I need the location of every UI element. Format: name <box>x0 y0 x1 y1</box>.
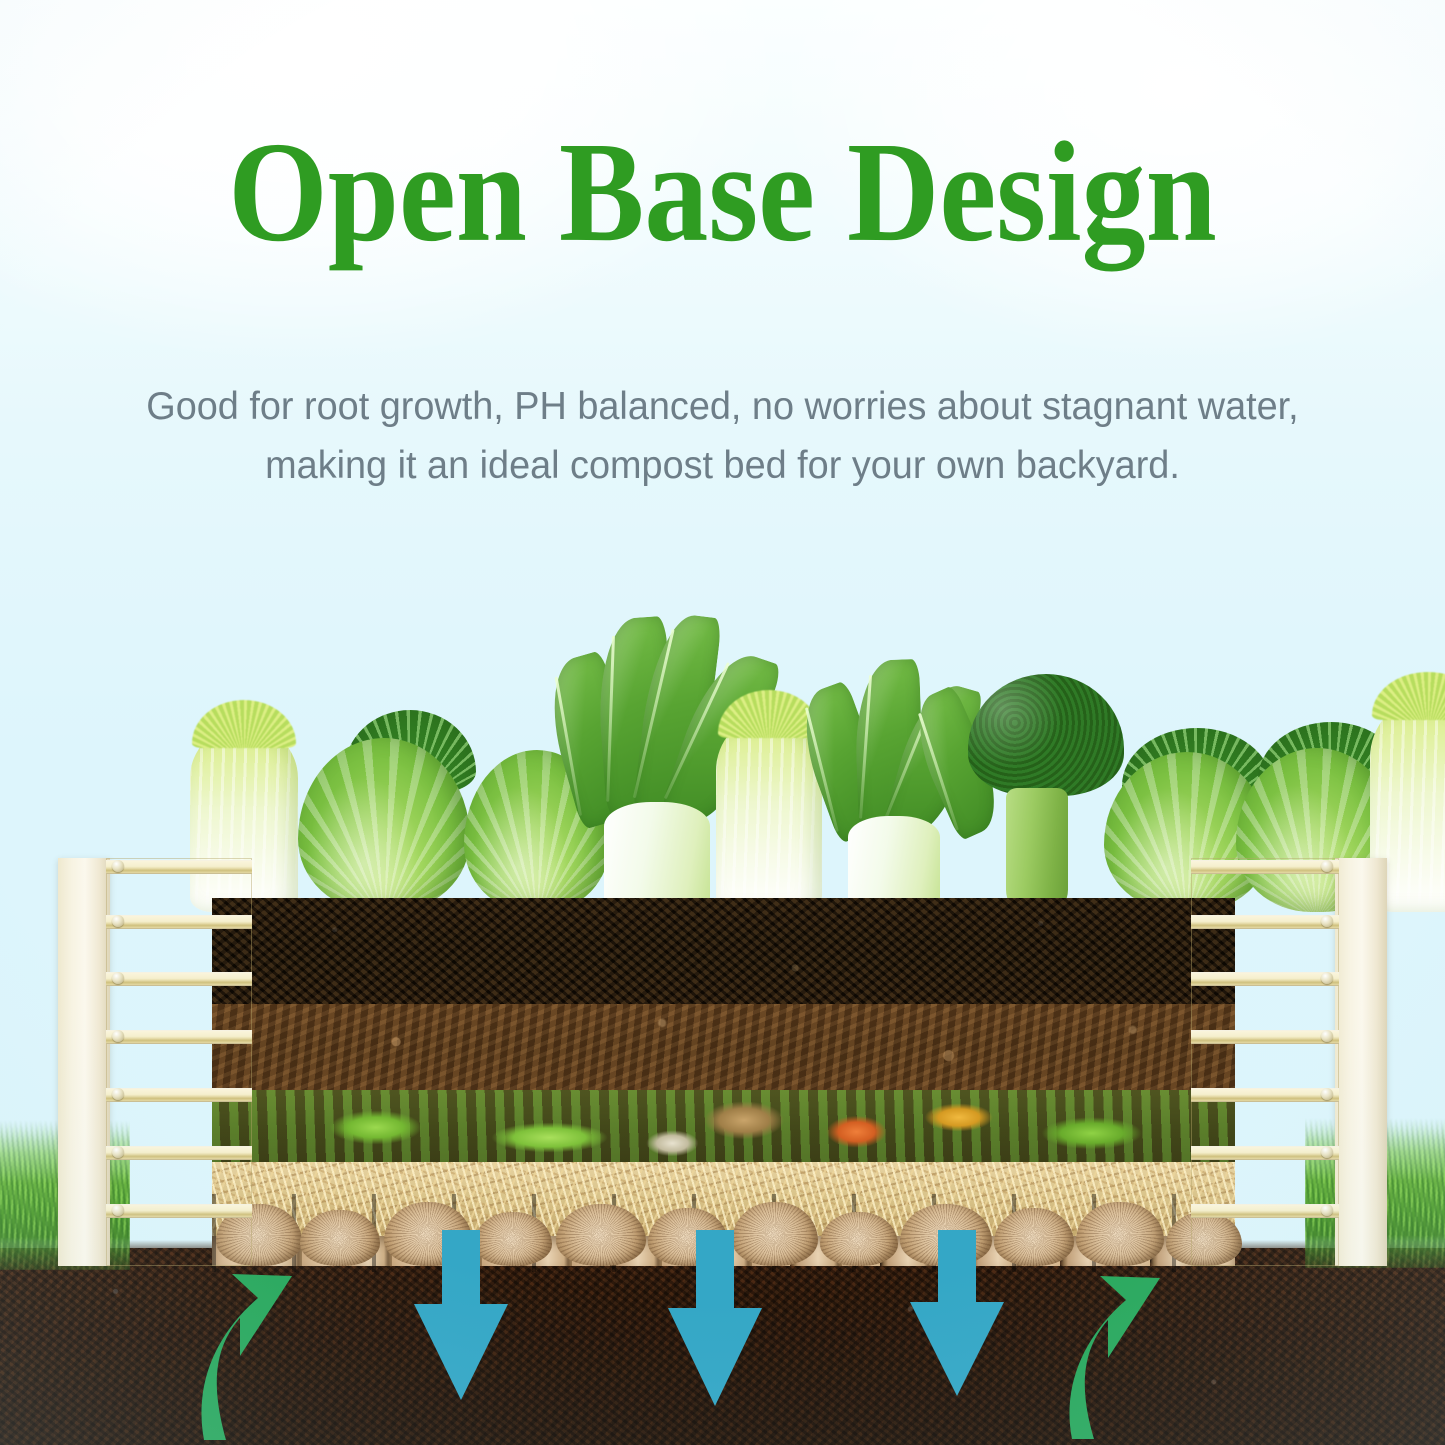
screw <box>112 1146 124 1158</box>
airflow-arrow-up-left-icon <box>196 1240 326 1440</box>
corner-post-left <box>58 858 110 1266</box>
vegetable-row <box>180 600 1265 912</box>
corner-post-right <box>1335 858 1387 1266</box>
raised-bed-panel-right[interactable] <box>1191 858 1387 1266</box>
page-title: Open Base Design <box>0 120 1445 263</box>
slat <box>1191 1088 1339 1102</box>
airflow-arrow-down-3-icon <box>902 1230 1012 1405</box>
vegetable-broccoli <box>944 668 1130 912</box>
slat-stack-right <box>1191 858 1339 1266</box>
vegetable-napa-cabbage-2 <box>716 716 822 912</box>
screw <box>112 1030 124 1042</box>
airflow-arrow-group <box>0 1230 1445 1445</box>
vegetable-cabbage-head-1 <box>298 728 476 912</box>
slat <box>1191 1030 1339 1044</box>
slat <box>106 1088 252 1102</box>
airflow-arrow-down-2-icon <box>660 1230 770 1415</box>
screw <box>112 1088 124 1100</box>
screw <box>1321 1088 1333 1100</box>
chard-stems <box>604 802 710 912</box>
screw <box>1321 915 1333 927</box>
screw <box>112 915 124 927</box>
page-subtitle: Good for root growth, PH balanced, no wo… <box>70 378 1375 495</box>
slat <box>1191 1204 1339 1218</box>
product-feature-banner: Open Base Design Good for root growth, P… <box>0 0 1445 1445</box>
broccoli-crown <box>968 674 1124 796</box>
slat <box>1191 915 1339 929</box>
layer-kitchen-scraps <box>212 1090 1235 1162</box>
airflow-arrow-up-right-icon <box>1060 1244 1190 1439</box>
slat <box>106 1030 252 1044</box>
screw <box>112 860 124 872</box>
screw <box>1321 1030 1333 1042</box>
broccoli-stalk <box>1006 788 1068 912</box>
screw <box>112 972 124 984</box>
layer-topsoil-compost <box>212 898 1235 1004</box>
slat <box>106 972 252 986</box>
screw <box>1321 972 1333 984</box>
slat <box>1191 1146 1339 1160</box>
slat <box>106 860 252 874</box>
airflow-arrow-down-1-icon <box>406 1230 516 1410</box>
screw <box>1321 1146 1333 1158</box>
screw <box>112 1204 124 1216</box>
screw <box>1321 1204 1333 1216</box>
layer-mulch-compost <box>212 1004 1235 1090</box>
slat <box>106 1204 252 1218</box>
napa-frill-icon <box>192 700 296 748</box>
subtitle-line-2: making it an ideal compost bed for your … <box>265 444 1180 487</box>
slat <box>106 1146 252 1160</box>
slat <box>1191 972 1339 986</box>
raised-bed-panel-left[interactable] <box>58 858 252 1266</box>
slat-stack-left <box>106 858 252 1266</box>
slat <box>106 915 252 929</box>
screw <box>1321 860 1333 872</box>
slat <box>1191 860 1339 874</box>
subtitle-line-1: Good for root growth, PH balanced, no wo… <box>146 385 1298 428</box>
